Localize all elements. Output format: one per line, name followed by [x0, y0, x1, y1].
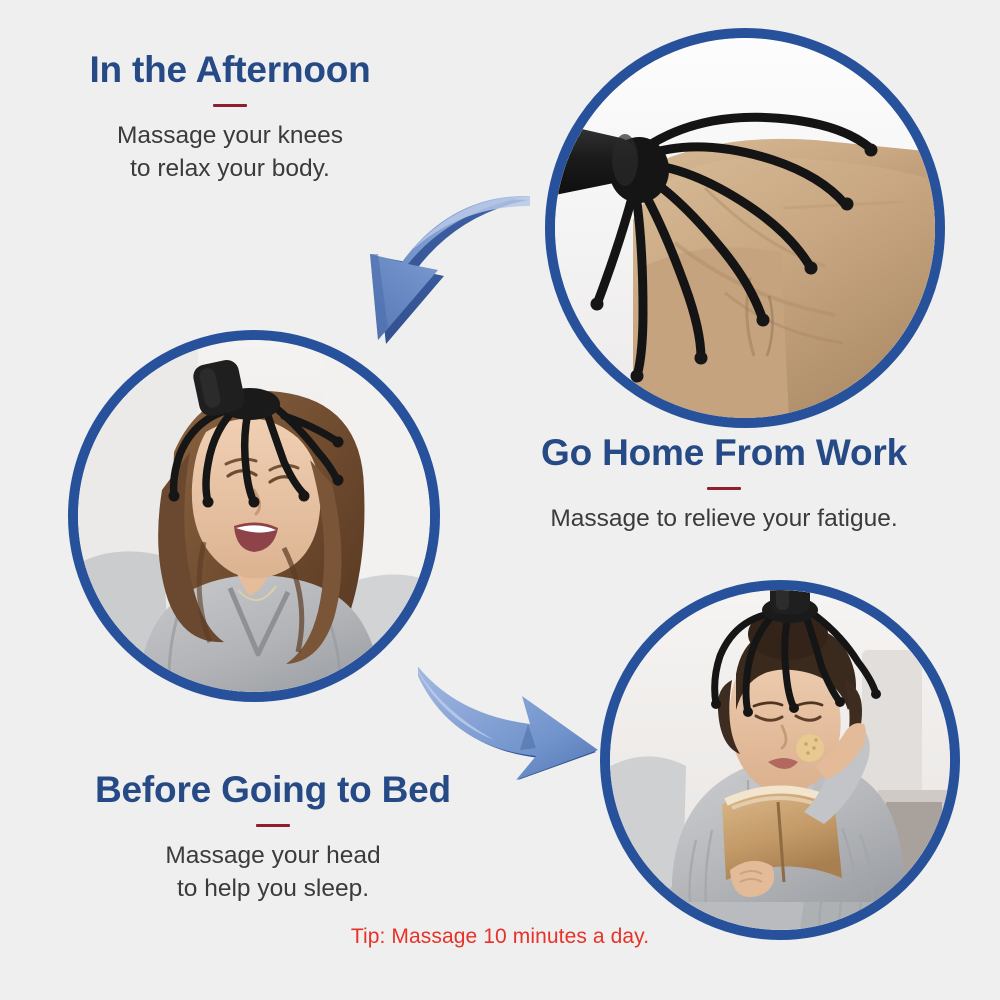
photo-woman-head-massage	[68, 330, 440, 702]
section-afternoon-subtext: Massage your knees to relax your body.	[0, 120, 460, 186]
photo-woman-reading-image	[610, 590, 950, 930]
infographic-canvas: In the Afternoon Massage your knees to r…	[0, 0, 1000, 1000]
section-go-home-heading: Go Home From Work	[494, 433, 954, 473]
tip-text: Tip: Massage 10 minutes a day.	[0, 925, 1000, 949]
section-before-bed-subtext: Massage your head to help you sleep.	[38, 840, 508, 906]
arrow-woman-to-bed-icon	[418, 628, 618, 793]
photo-woman-head-massage-image	[78, 340, 430, 692]
photo-knee-massage	[545, 28, 945, 428]
section-before-bed-divider	[256, 824, 290, 827]
section-go-home: Go Home From Work Massage to relieve you…	[494, 433, 954, 536]
arrow-afternoon-to-woman-icon	[352, 186, 532, 356]
photo-knee-massage-image	[555, 38, 935, 418]
section-go-home-subtext: Massage to relieve your fatigue.	[494, 503, 954, 536]
section-afternoon-heading: In the Afternoon	[0, 50, 460, 90]
section-go-home-divider	[707, 487, 741, 490]
photo-woman-reading	[600, 580, 960, 940]
section-afternoon: In the Afternoon Massage your knees to r…	[0, 50, 460, 186]
section-afternoon-divider	[213, 104, 247, 107]
